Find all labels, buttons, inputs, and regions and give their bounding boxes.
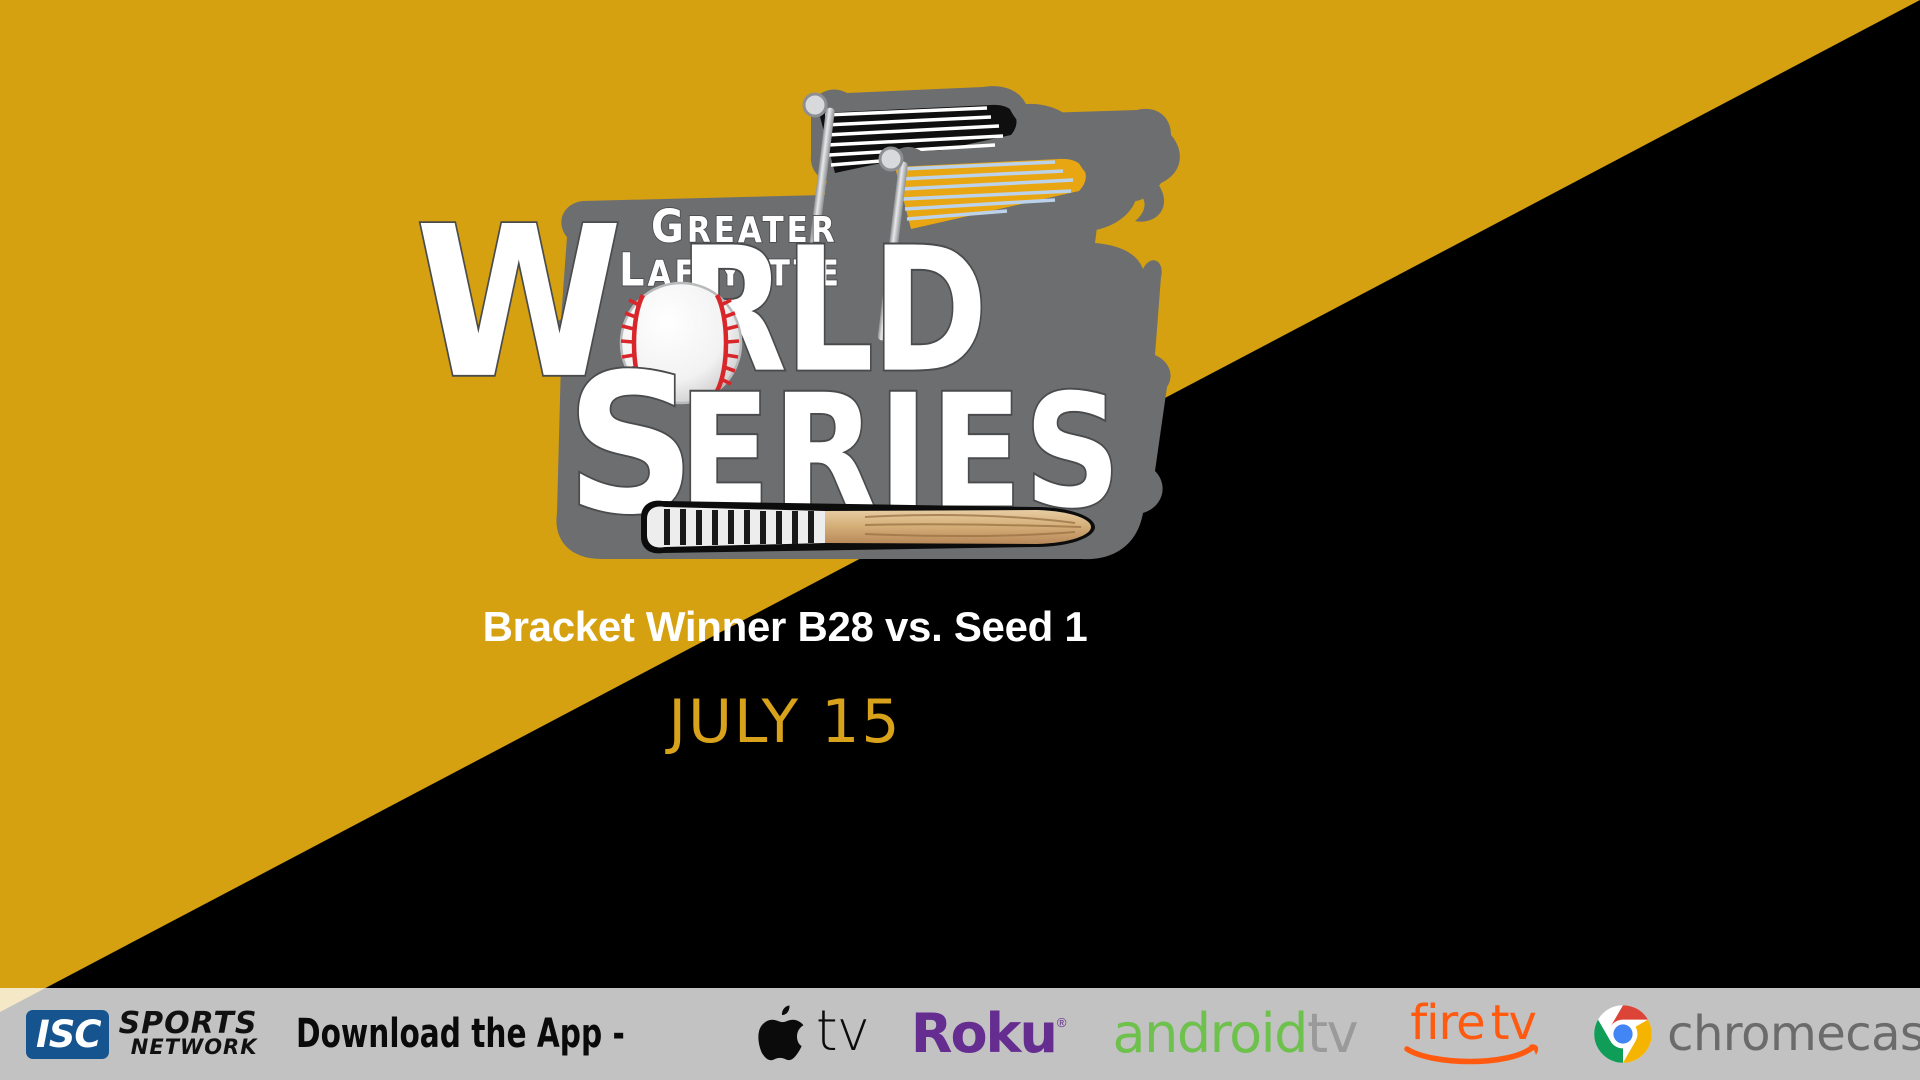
chrome-icon [1593, 1004, 1653, 1064]
android-label: android [1113, 1007, 1307, 1061]
apple-icon [758, 1003, 810, 1065]
isc-badge: ISC [26, 1010, 109, 1059]
broadcast-graphic-stage: GREATER LAFAYETTE W RLD [0, 0, 1920, 1080]
platform-fire-tv[interactable]: fire tv [1403, 999, 1543, 1069]
chromecast-label: chromecast [1667, 1010, 1920, 1058]
fire-tv-label: tv [1491, 999, 1536, 1047]
baseball-bat-icon [641, 501, 1095, 554]
greater-lafayette-world-series-logo: GREATER LAFAYETTE W RLD [395, 55, 1195, 585]
download-app-label: Download the App - [296, 1011, 625, 1057]
isc-wordmark: SPORTS NETWORK [119, 1010, 258, 1057]
isc-sports-label: SPORTS [119, 1010, 258, 1038]
isc-sports-network-logo[interactable]: ISC SPORTS NETWORK [26, 1010, 258, 1059]
roku-label: Roku [911, 1007, 1056, 1061]
android-tv-label: tv [1307, 1007, 1357, 1061]
game-date: JULY 15 [0, 687, 1570, 757]
isc-badge-label: ISC [36, 1016, 101, 1053]
platform-apple-tv[interactable]: tv [758, 1003, 869, 1065]
fire-tv-wordmark: fire tv [1410, 999, 1536, 1047]
amazon-smile-icon [1403, 1043, 1543, 1069]
isc-network-label: NETWORK [119, 1038, 258, 1058]
platform-android-tv[interactable]: android tv [1113, 1007, 1358, 1061]
fire-label: fire [1410, 999, 1484, 1047]
platform-chromecast[interactable]: chromecast [1593, 1004, 1920, 1064]
apple-tv-label: tv [816, 1004, 869, 1060]
sponsor-bar: ISC SPORTS NETWORK Download the App - tv… [0, 988, 1920, 1080]
platform-roku[interactable]: Roku ® [911, 1007, 1067, 1061]
matchup-title: Bracket Winner B28 vs. Seed 1 [0, 603, 1570, 651]
roku-registered-mark: ® [1057, 1015, 1067, 1030]
